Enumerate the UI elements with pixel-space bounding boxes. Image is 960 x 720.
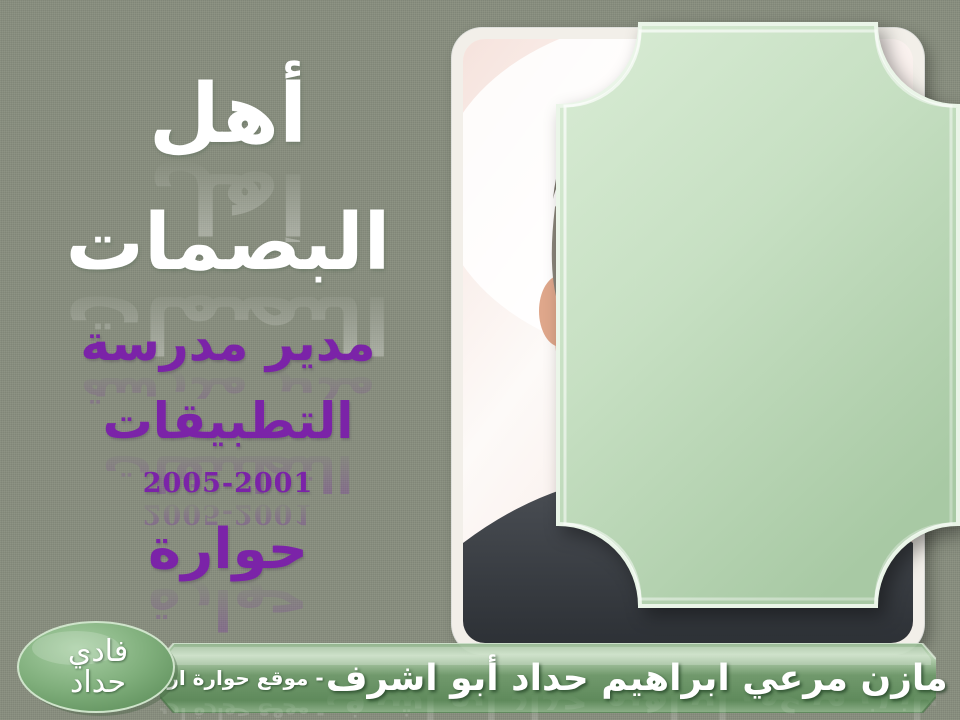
name-banner bbox=[160, 643, 936, 713]
place-name: حوارة bbox=[26, 522, 430, 578]
years-range: 2005-2001 bbox=[26, 470, 430, 497]
title-line-1-reflection: أهل bbox=[26, 160, 430, 242]
name-banner-shape bbox=[160, 643, 936, 713]
subtitle-line-1: مدير مدرسة bbox=[26, 318, 430, 368]
title-line-2: البصمات bbox=[26, 204, 430, 282]
years-range-reflection: 2005-2001 bbox=[26, 500, 430, 527]
subtitle-line-1-reflection: مدير مدرسة bbox=[26, 370, 430, 420]
author-badge-shape bbox=[14, 616, 182, 718]
panel-text-block: أهل أهل البصمات البصمات مدير مدرسة مدير … bbox=[26, 22, 430, 608]
subtitle-line-2: التطبيقات bbox=[26, 396, 430, 446]
subtitle-line-2-reflection: التطبيقات bbox=[26, 448, 430, 498]
green-panel-shape bbox=[556, 22, 960, 608]
title-line-1: أهل bbox=[26, 74, 430, 156]
title-line-2-reflection: البصمات bbox=[26, 284, 430, 362]
poster-canvas: أهل أهل البصمات البصمات مدير مدرسة مدير … bbox=[0, 0, 960, 720]
author-badge bbox=[14, 616, 182, 718]
green-panel bbox=[556, 22, 960, 608]
